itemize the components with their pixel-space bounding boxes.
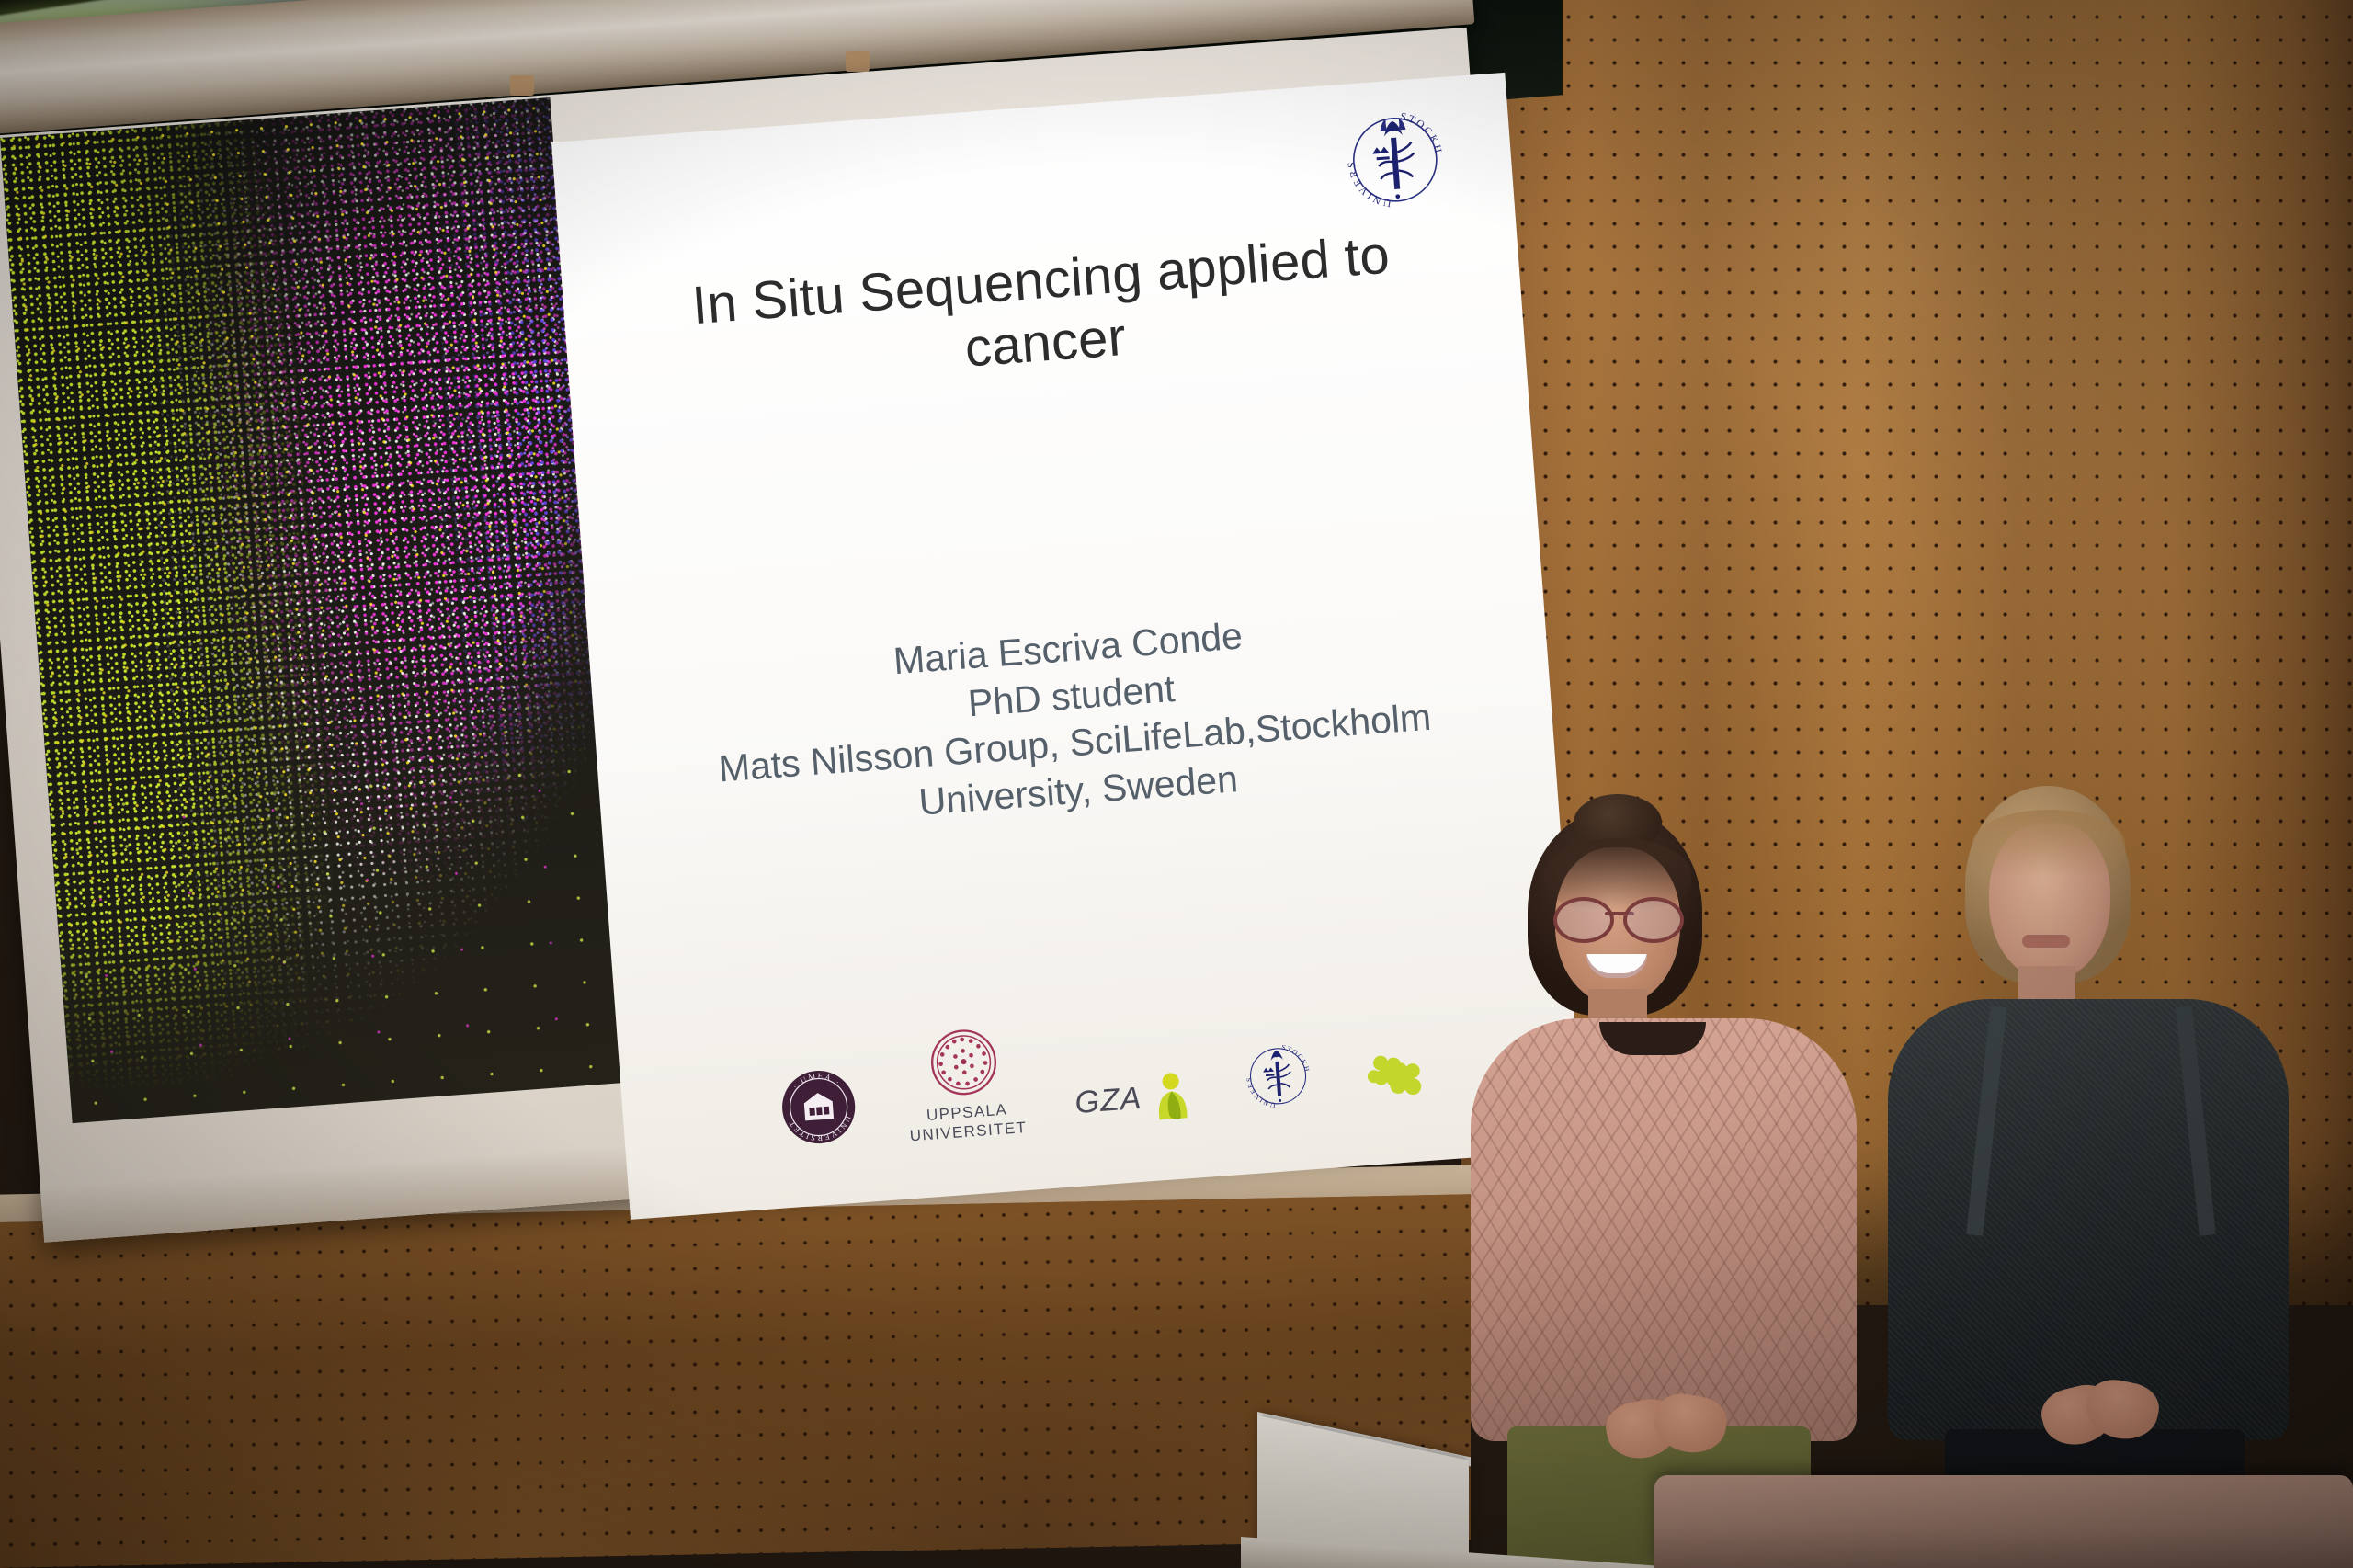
stockholm-university-seal-icon: STOCKHOLMS UNIVERSITET — [1336, 101, 1454, 219]
presenter-left-hands — [1607, 1393, 1735, 1467]
svg-text:STOCKHOLMS: STOCKHOLMS — [1239, 1037, 1312, 1078]
presenter-right — [1893, 786, 2289, 1568]
screen-bracket-right — [846, 51, 870, 72]
logo-uppsala: UPPSALA UNIVERSITET — [902, 1023, 1028, 1146]
presentation-photo-scene: adeo — [0, 0, 2353, 1568]
presenter-right-hands — [2042, 1381, 2162, 1459]
slide-title: In Situ Sequencing applied to cancer — [562, 214, 1524, 410]
presenter-right-hair-front — [1972, 810, 2125, 878]
gza-wordmark: GZA — [1074, 1080, 1143, 1120]
presenter-right-lips — [2022, 935, 2070, 948]
in-situ-sequencing-dot-plot — [0, 97, 622, 1123]
iss-dots-scattered — [48, 748, 622, 1123]
glasses-icon — [1552, 897, 1686, 936]
logo-uppsala-caption: UPPSALA UNIVERSITET — [908, 1099, 1028, 1145]
presenter-left — [1471, 809, 1857, 1568]
scilifelab-mark-icon — [1363, 1049, 1424, 1106]
svg-text:UNIVERSITET: UNIVERSITET — [1336, 101, 1393, 212]
uppsala-university-seal-icon — [925, 1024, 1002, 1101]
logo-scilifelab — [1363, 1049, 1425, 1111]
screen-bracket-left — [510, 75, 534, 96]
slide-footer-logos: · UMEÅ · UNIVERSITET — [619, 982, 1580, 1166]
presenter-right-blazer — [1888, 999, 2289, 1440]
svg-text:STOCKHOLMS: STOCKHOLMS — [1336, 101, 1444, 164]
presentation-slide: STOCKHOLMS UNIVERSITET In — [551, 73, 1584, 1220]
logo-umea: · UMEÅ · UNIVERSITET — [776, 1065, 861, 1155]
logo-gza: GZA — [1074, 1070, 1196, 1133]
presenter-left-sweater — [1471, 1018, 1857, 1441]
stockholm-university-seal-footer-icon: STOCKHOLMS UNIVERSITET — [1239, 1037, 1318, 1116]
logo-stockholm: STOCKHOLMS UNIVERSITET — [1239, 1037, 1318, 1121]
umea-university-seal-icon: · UMEÅ · UNIVERSITET — [776, 1065, 860, 1150]
presenter-left-collar — [1599, 1022, 1706, 1055]
slide-body: Maria Escriva Conde PhD student Mats Nil… — [589, 590, 1556, 849]
auditorium-desk-panel — [1654, 1475, 2353, 1568]
gza-person-icon — [1149, 1070, 1195, 1122]
